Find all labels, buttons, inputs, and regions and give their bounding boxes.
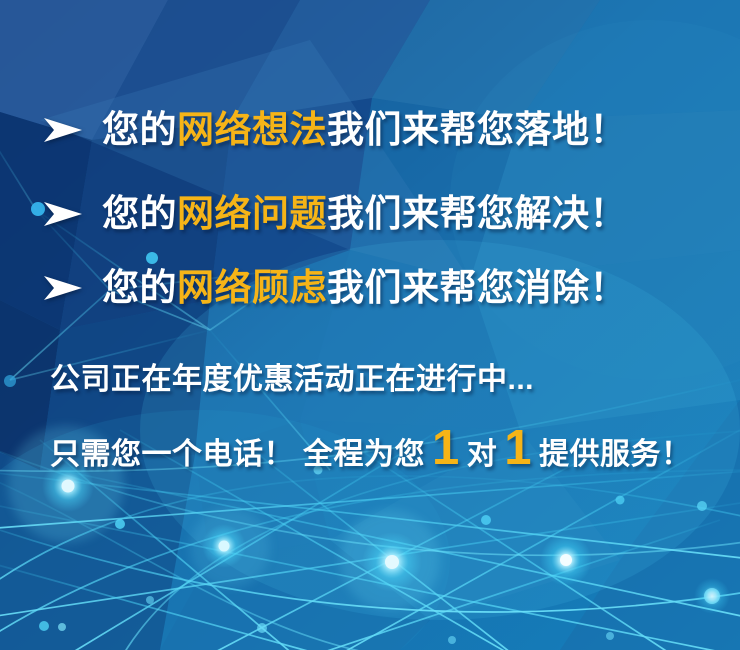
headline-2-part-a: 您的 <box>102 193 177 234</box>
headline-row-1: 您的网络想法我们来帮您落地！ <box>42 104 627 156</box>
number-one-second: 1 <box>497 424 539 472</box>
promo-subline-1: 公司正在年度优惠活动正在进行中... <box>50 358 534 402</box>
headline-1-part-c: 我们来帮您落地！ <box>327 109 627 150</box>
headline-3-part-a: 您的 <box>102 267 177 308</box>
promo-subline-2: 只需您一个电话！ 全程为您 1 对 1 提供服务！ <box>50 424 692 479</box>
headline-2-part-c: 我们来帮您解决！ <box>327 193 627 234</box>
headline-text-3: 您的网络顾虑我们来帮您消除！ <box>102 262 627 314</box>
subline-2-seg-a: 只需您一个电话！ <box>50 431 294 479</box>
arrow-right-icon <box>42 273 84 303</box>
headline-text-2: 您的网络问题我们来帮您解决！ <box>102 188 627 240</box>
arrow-right-icon <box>42 199 84 229</box>
subline-2-seg-c: 对 <box>467 431 498 479</box>
subline-2-seg-d: 提供服务！ <box>539 431 692 479</box>
promo-banner: 您的网络想法我们来帮您落地！ 您的网络问题我们来帮您解决！ 您的网络顾虑我们来帮… <box>0 0 740 650</box>
headline-2-highlight: 网络问题 <box>177 193 327 234</box>
banner-content: 您的网络想法我们来帮您落地！ 您的网络问题我们来帮您解决！ 您的网络顾虑我们来帮… <box>0 0 740 650</box>
arrow-right-icon <box>42 115 84 145</box>
headline-1-part-a: 您的 <box>102 109 177 150</box>
headline-row-3: 您的网络顾虑我们来帮您消除！ <box>42 262 627 314</box>
headline-row-2: 您的网络问题我们来帮您解决！ <box>42 188 627 240</box>
number-one-first: 1 <box>425 424 467 472</box>
headline-3-part-c: 我们来帮您消除！ <box>327 267 627 308</box>
subline-2-seg-b: 全程为您 <box>303 431 425 479</box>
headline-3-highlight: 网络顾虑 <box>177 267 327 308</box>
headline-1-highlight: 网络想法 <box>177 109 327 150</box>
headline-text-1: 您的网络想法我们来帮您落地！ <box>102 104 627 156</box>
